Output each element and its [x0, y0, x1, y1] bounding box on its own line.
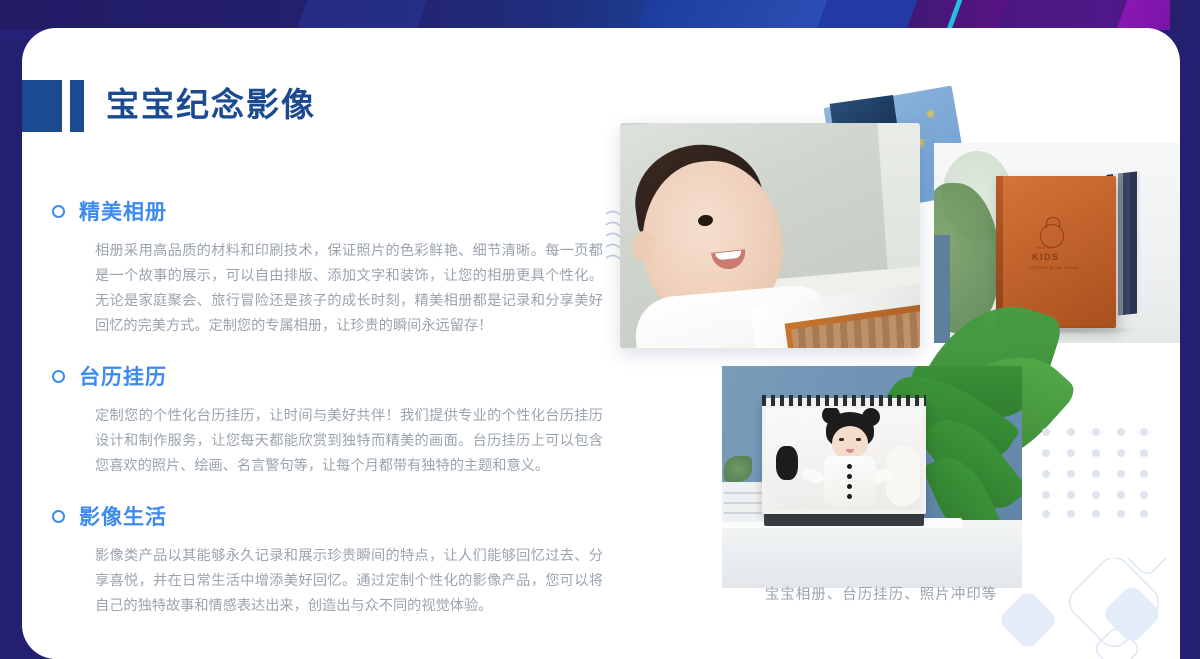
- outfit-button: [847, 494, 852, 499]
- title-accent-bar-wide-icon: [22, 80, 62, 132]
- circle-outline-icon: [52, 205, 65, 218]
- book-spine: [996, 176, 1003, 328]
- album-illustration: [620, 123, 920, 348]
- section-calendar-header: 台历挂历: [50, 361, 610, 391]
- calendar-toy-dark: [776, 446, 798, 480]
- book-line: [724, 502, 764, 504]
- section-imaging-life-header: 影像生活: [50, 501, 610, 531]
- calendar-photo: [766, 408, 922, 510]
- outfit-button: [847, 464, 852, 469]
- book-line: [724, 492, 764, 494]
- section-calendar-title: 台历挂历: [79, 361, 167, 391]
- section-imaging-life-title: 影像生活: [79, 501, 167, 531]
- section-album-body: 相册采用高品质的材料和印刷技术，保证照片的色彩鲜艳、细节清晰。每一页都是一个故事…: [95, 239, 603, 339]
- circle-outline-icon: [52, 510, 65, 523]
- calendar-card: [762, 398, 926, 514]
- section-calendar-body: 定制您的个性化台历挂历，让时间与美好共伴！我们提供专业的个性化台历挂历设计和制作…: [95, 404, 603, 479]
- baby-ear: [632, 231, 656, 261]
- book-brand-text: KIDS: [1032, 252, 1060, 262]
- leather-photo-book-image: PHOTO KIDS children grow album: [934, 143, 1180, 343]
- page-title: 宝宝纪念影像: [106, 80, 316, 132]
- calendar-toy: [772, 416, 802, 446]
- book-cover: PHOTO KIDS children grow album: [996, 176, 1116, 328]
- page-title-row: 宝宝纪念影像: [22, 80, 316, 132]
- circle-outline-icon: [52, 370, 65, 383]
- book-tagline-text: children grow album: [1028, 265, 1079, 270]
- calendar-baby-face: [832, 426, 868, 460]
- calendar-baby-eye: [856, 438, 861, 441]
- book-background-blue-panel: [934, 235, 950, 343]
- calendar-table: [722, 520, 1022, 588]
- calendar-baby-arm: [801, 467, 826, 485]
- rounded-diamond-decoration-icon: [982, 558, 1180, 659]
- sections-column: 精美相册 相册采用高品质的材料和印刷技术，保证照片的色彩鲜艳、细节清晰。每一页都…: [50, 196, 610, 639]
- book-small-label: PHOTO: [1036, 246, 1051, 250]
- dot-grid-icon: [1040, 426, 1150, 518]
- calendar-small-plant: [724, 456, 752, 482]
- calendar-baby-eye: [839, 438, 844, 441]
- section-imaging-life-body: 影像类产品以其能够永久记录和展示珍贵瞬间的特点，让人们能够回忆过去、分享喜悦，并…: [95, 544, 603, 619]
- desk-calendar-image: [722, 366, 1022, 588]
- open-photo-album-image: [620, 123, 920, 348]
- title-accent-bar-narrow-icon: [70, 80, 84, 132]
- section-album: 精美相册 相册采用高品质的材料和印刷技术，保证照片的色彩鲜艳、细节清晰。每一页都…: [50, 196, 610, 339]
- section-album-header: 精美相册: [50, 196, 610, 226]
- section-imaging-life: 影像生活 影像类产品以其能够永久记录和展示珍贵瞬间的特点，让人们能够回忆过去、分…: [50, 501, 610, 619]
- section-calendar: 台历挂历 定制您的个性化台历挂历，让时间与美好共伴！我们提供专业的个性化台历挂历…: [50, 361, 610, 479]
- paw-print-icon: ❀: [925, 109, 936, 121]
- content-card: 宝宝纪念影像 精美相册 相册采用高品质的材料和印刷技术，保证照片的色彩鲜艳、细节…: [22, 28, 1180, 659]
- section-album-title: 精美相册: [79, 196, 167, 226]
- outfit-button: [847, 474, 852, 479]
- outfit-button: [847, 484, 852, 489]
- calendar-spiral-binding: [762, 395, 926, 406]
- book-line: [724, 512, 764, 514]
- book-logo-icon: [1040, 224, 1064, 248]
